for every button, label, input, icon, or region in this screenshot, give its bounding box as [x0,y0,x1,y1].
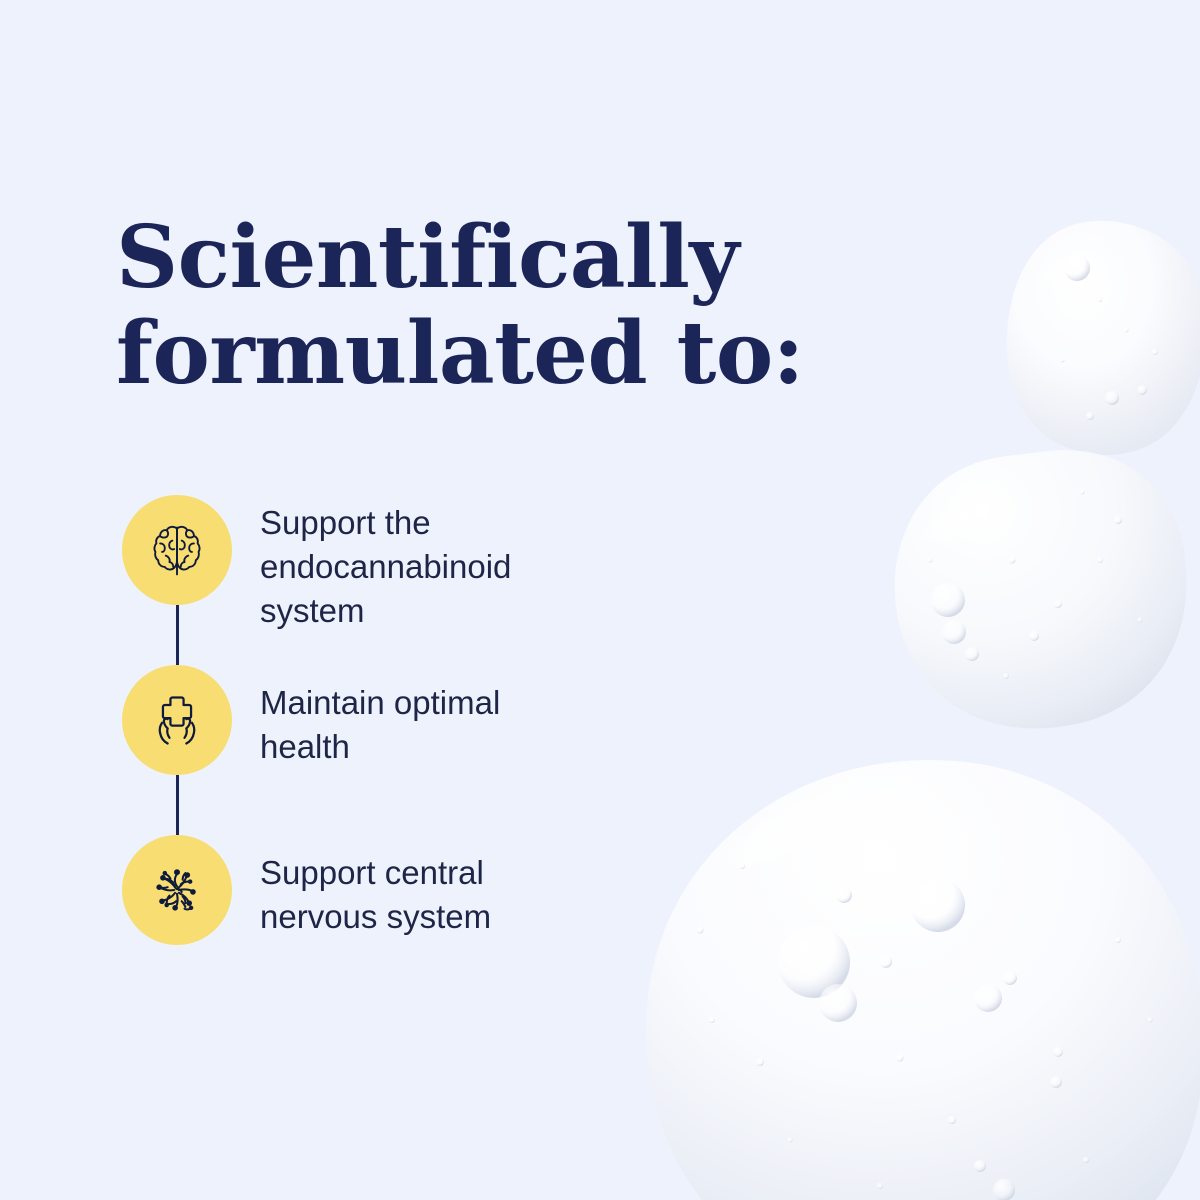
timeline-connector [176,605,179,665]
brain-icon [122,495,232,605]
benefits-list: Support the endocannabinoid system Maint… [122,495,602,945]
benefit-item-endocannabinoid: Support the endocannabinoid system [122,495,602,605]
benefit-label: Support central nervous system [260,835,491,939]
neuron-icon [122,835,232,945]
benefit-item-optimal-health: Maintain optimal health [122,665,602,775]
hands-holding-cross-icon [122,665,232,775]
timeline-connector [176,775,179,835]
promo-card: Scientifically formulated to: [0,0,1200,1200]
benefit-label: Support the endocannabinoid system [260,495,511,633]
benefit-item-nervous-system: Support central nervous system [122,835,602,945]
page-title: Scientifically formulated to: [116,210,836,403]
benefit-label: Maintain optimal health [260,665,500,769]
